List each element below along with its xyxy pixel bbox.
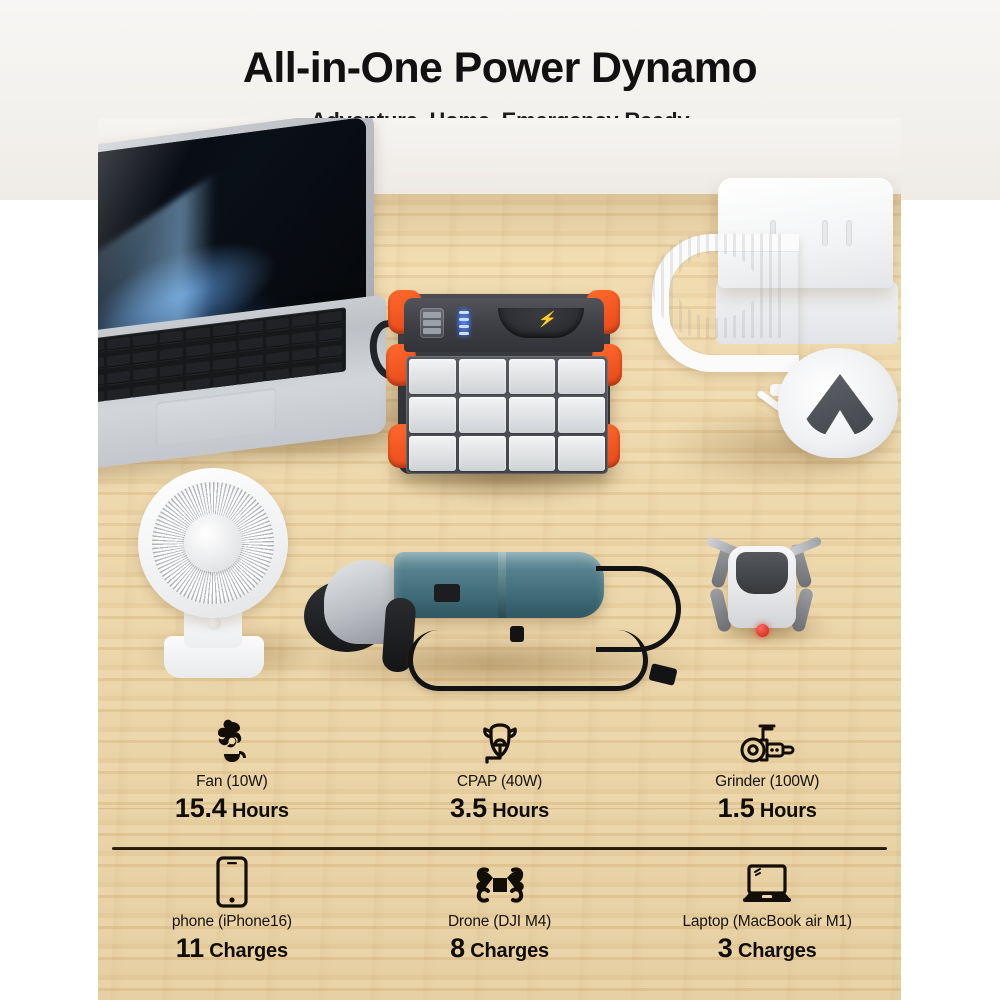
- power-station-device: ⚡: [388, 286, 620, 486]
- stat-number: 3.5: [450, 793, 487, 823]
- cpap-device: [658, 178, 901, 508]
- stat-item-grinder: Grinder (100W) 1.5 Hours: [633, 716, 901, 824]
- stat-item-cpap: CPAP (40W) 3.5 Hours: [366, 716, 634, 824]
- stat-value: 15.4 Hours: [98, 793, 366, 824]
- drone-indicator-light: [756, 624, 769, 637]
- stat-value: 1.5 Hours: [633, 793, 901, 824]
- stat-value: 3 Charges: [633, 933, 901, 964]
- stat-label: Laptop (MacBook air M1): [633, 913, 901, 930]
- stat-number: 3: [718, 933, 733, 963]
- stat-label: Grinder (100W): [633, 773, 901, 790]
- grinder-switch: [434, 584, 460, 602]
- angle-grinder-device: [298, 538, 718, 708]
- fan-head: [138, 468, 288, 618]
- stats-divider: [112, 847, 887, 850]
- grinder-icon: [633, 716, 901, 768]
- mask-cushion: [804, 374, 876, 436]
- charges-stats-row: phone (iPhone16) 11 Charges: [98, 856, 901, 964]
- drone-icon: [366, 856, 634, 908]
- runtime-stats-row: Fan (10W) 15.4 Hours: [98, 716, 901, 824]
- page-title: All-in-One Power Dynamo: [0, 44, 1000, 93]
- laptop-icon: [633, 856, 901, 908]
- stat-number: 8: [450, 933, 465, 963]
- cpap-face-mask: [778, 348, 898, 458]
- drone-top-cover: [736, 552, 788, 594]
- stat-number: 11: [176, 933, 204, 963]
- stat-unit: Charges: [470, 940, 549, 962]
- lightning-bolt-icon: ⚡: [536, 312, 558, 327]
- stat-label: CPAP (40W): [366, 773, 634, 790]
- stat-value: 11 Charges: [98, 933, 366, 964]
- stat-item-laptop: Laptop (MacBook air M1) 3 Charges: [633, 856, 901, 964]
- grinder-body-ring: [498, 552, 506, 618]
- laptop-device: [98, 128, 398, 458]
- stat-number: 15.4: [175, 793, 227, 823]
- stat-label: Fan (10W): [98, 773, 366, 790]
- stat-unit: Charges: [209, 940, 288, 962]
- stat-item-fan: Fan (10W) 15.4 Hours: [98, 716, 366, 824]
- stat-label: phone (iPhone16): [98, 913, 366, 930]
- stat-unit: Charges: [738, 940, 817, 962]
- cpap-hose-ribs: [652, 234, 782, 338]
- cpap-icon: [366, 716, 634, 768]
- battery-indicator-leds: [456, 307, 472, 337]
- power-cord-loop: [408, 630, 648, 691]
- stat-unit: Hours: [492, 800, 549, 822]
- fan-hub: [184, 514, 242, 572]
- stat-value: 3.5 Hours: [366, 793, 634, 824]
- stat-item-phone: phone (iPhone16) 11 Charges: [98, 856, 366, 964]
- stat-item-drone: Drone (DJI M4) 8 Charges: [366, 856, 634, 964]
- fan-icon: [98, 716, 366, 768]
- desk-fan-device: [128, 468, 318, 688]
- stat-number: 1.5: [718, 793, 755, 823]
- stat-value: 8 Charges: [366, 933, 634, 964]
- stat-label: Drone (DJI M4): [366, 913, 634, 930]
- product-marketing-image: All-in-One Power Dynamo Adventure, Home,…: [0, 0, 1000, 1000]
- stat-unit: Hours: [760, 800, 817, 822]
- led-light-panel: [406, 356, 608, 474]
- drone-device: [698, 528, 838, 658]
- stat-unit: Hours: [232, 800, 289, 822]
- cord-clip: [510, 626, 524, 642]
- fan-power-button: [207, 616, 221, 630]
- phone-icon: [98, 856, 366, 908]
- laptop-trackpad: [156, 388, 276, 447]
- product-photo: ⚡: [98, 118, 901, 1000]
- mode-button: [420, 308, 444, 338]
